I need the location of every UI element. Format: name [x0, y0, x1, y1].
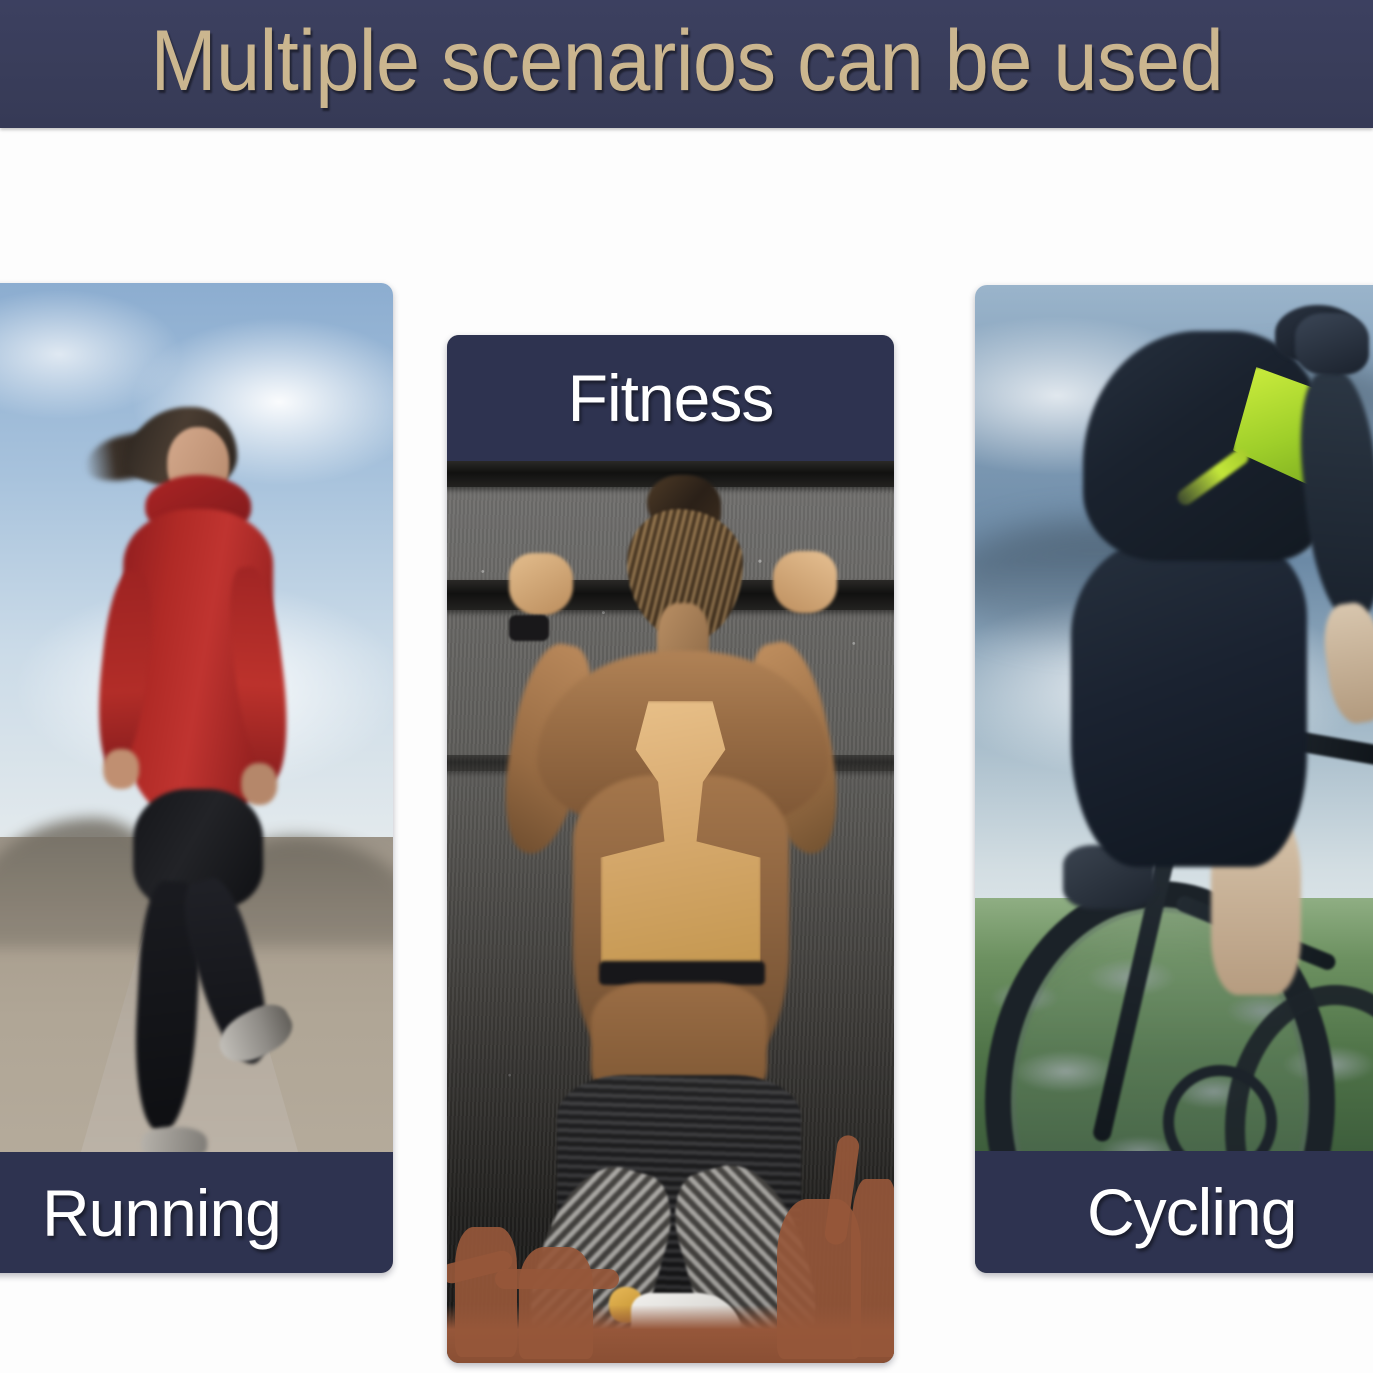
running-photo [0, 283, 393, 1273]
scenario-card-running[interactable]: Running [0, 283, 393, 1273]
cycling-figure [975, 285, 1373, 1273]
header-banner: Multiple scenarios can be used [0, 0, 1373, 128]
scenario-card-fitness[interactable]: Fitness [447, 335, 894, 1363]
cycling-shorts [1071, 537, 1307, 867]
fitness-photo [447, 335, 894, 1363]
fitness-pose-silhouette-2-arm [495, 1269, 619, 1289]
fitness-fist-left [509, 553, 573, 615]
cycling-arm [1292, 368, 1373, 624]
fitness-fist-right [773, 551, 837, 613]
fitness-label-text: Fitness [568, 365, 774, 431]
cycling-photo [975, 285, 1373, 1273]
cycling-label-bar: Cycling [975, 1151, 1373, 1273]
scenario-card-cycling[interactable]: Cycling [975, 285, 1373, 1273]
fitness-yoga-mat-silhouettes [447, 1133, 894, 1363]
cycling-label-text: Cycling [1087, 1179, 1296, 1245]
fitness-pose-silhouette-2 [519, 1247, 593, 1359]
cycling-glove [1295, 313, 1369, 375]
running-hand-left [103, 749, 139, 789]
fitness-label-bar: Fitness [447, 335, 894, 461]
running-label-text: Running [42, 1180, 281, 1246]
running-figure [89, 391, 299, 1031]
cycling-forearm [1319, 600, 1373, 727]
fitness-waistband [599, 961, 765, 985]
fitness-pose-silhouette-4 [851, 1179, 894, 1357]
fitness-wrist-watch [509, 615, 549, 641]
running-hand-right [241, 763, 277, 805]
fitness-pose-silhouette-1 [455, 1227, 517, 1357]
running-label-bar: Running [0, 1152, 393, 1273]
page-title: Multiple scenarios can be used [150, 18, 1223, 110]
